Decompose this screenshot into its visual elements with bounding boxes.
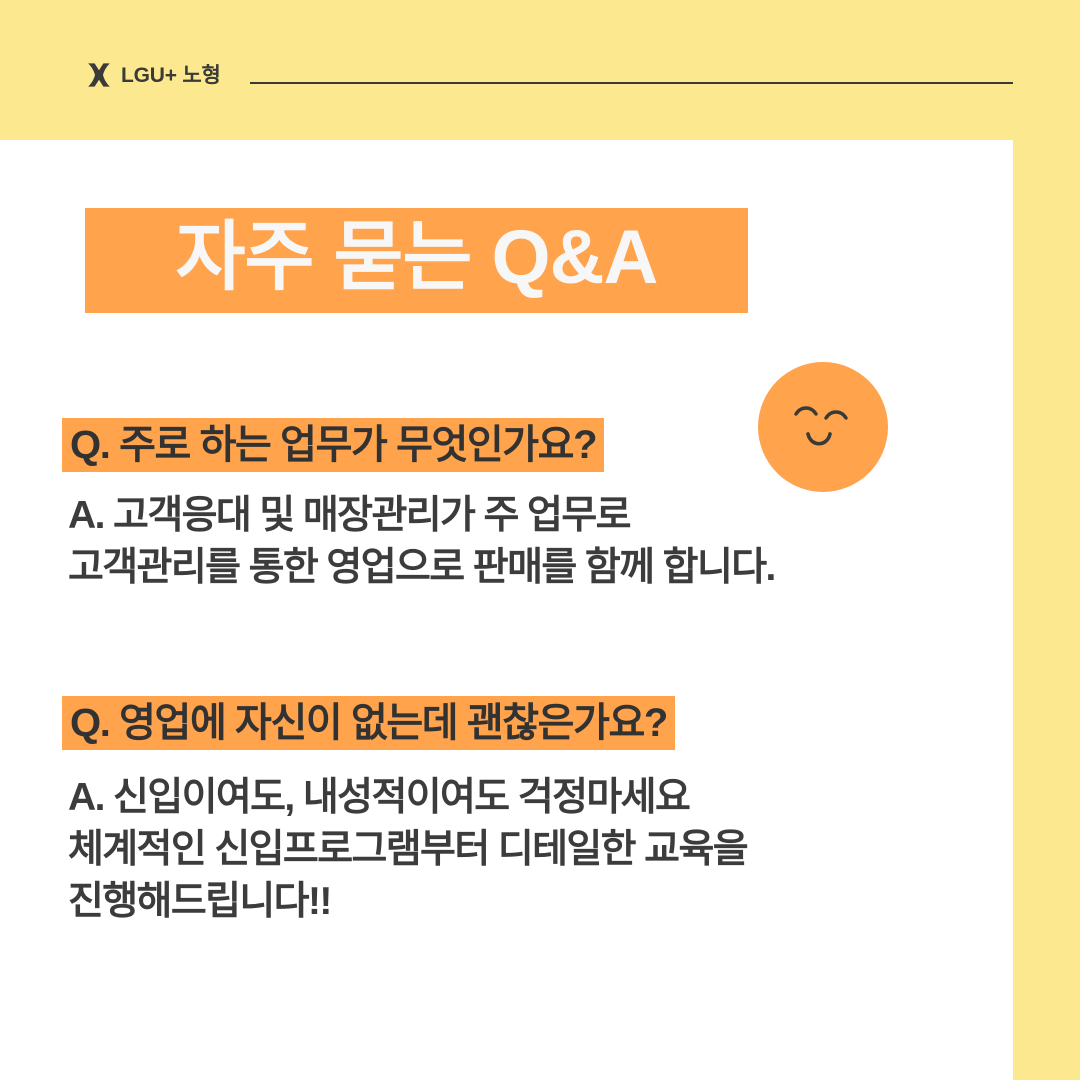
lgu-x-logo-icon: [86, 62, 112, 88]
page-title: 자주 묻는 Q&A: [176, 220, 658, 296]
question-row-1: Q. 주로 하는 업무가 무엇인가요?: [62, 418, 604, 472]
title-banner: 자주 묻는 Q&A: [85, 208, 748, 313]
qa-item-1: Q. 주로 하는 업무가 무엇인가요? A. 고객응대 및 매장관리가 주 업무…: [62, 418, 775, 594]
card-header: LGU+ 노형: [0, 0, 1080, 140]
brand-name: LGU+ 노형: [121, 65, 221, 86]
question-text-2: Q. 영업에 자신이 없는데 괜찮은가요?: [62, 696, 675, 750]
question-text-1: Q. 주로 하는 업무가 무엇인가요?: [62, 418, 604, 472]
smiley-face-icon: [758, 362, 888, 492]
question-row-2: Q. 영업에 자신이 없는데 괜찮은가요?: [62, 696, 675, 750]
answer-text-2: A. 신입이여도, 내성적이여도 걱정마세요 체계적인 신입프로그램부터 디테일…: [62, 772, 747, 928]
brand-lockup: LGU+ 노형: [86, 62, 221, 88]
qa-item-2: Q. 영업에 자신이 없는데 괜찮은가요? A. 신입이여도, 내성적이여도 걱…: [62, 696, 747, 928]
answer-text-1: A. 고객응대 및 매장관리가 주 업무로 고객관리를 통한 영업으로 판매를 …: [62, 490, 775, 594]
qa-card: LGU+ 노형 자주 묻는 Q&A Q. 주로 하는 업무가 무엇인가요? A.…: [0, 0, 1080, 1080]
header-divider: [250, 82, 1013, 84]
